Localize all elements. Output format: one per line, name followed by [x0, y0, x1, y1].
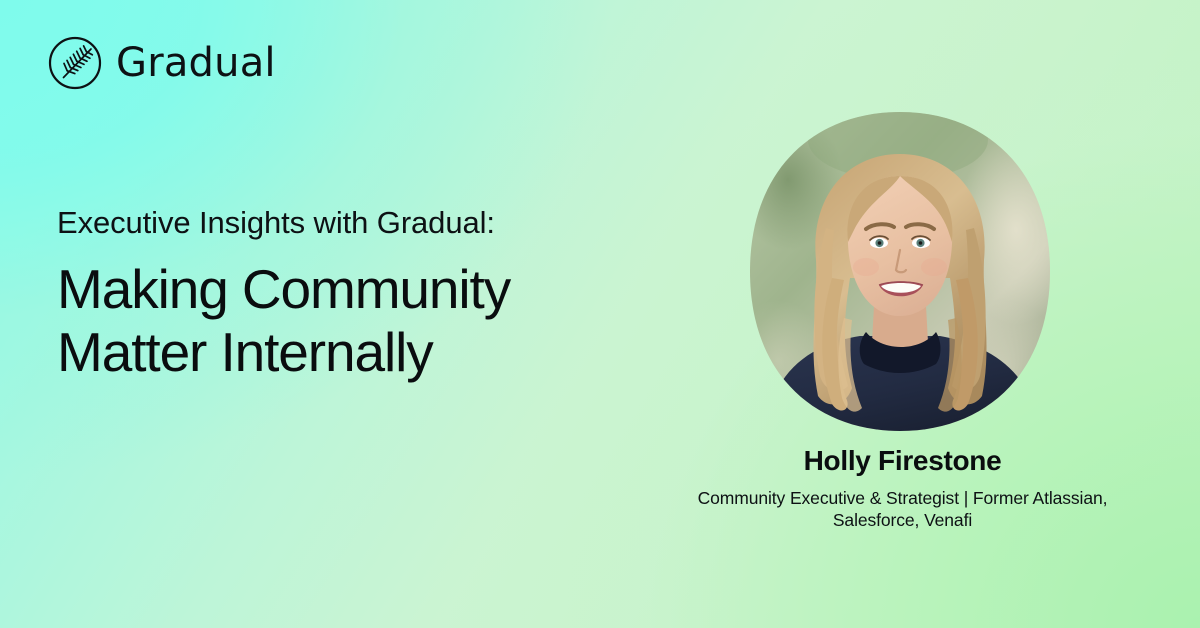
eyebrow-text: Executive Insights with Gradual: [57, 205, 677, 242]
fern-in-circle-icon [48, 36, 102, 90]
headline-block: Executive Insights with Gradual: Making … [57, 205, 677, 385]
speaker-name: Holly Firestone [655, 444, 1150, 478]
speaker-role: Community Executive & Strategist | Forme… [655, 487, 1150, 532]
page-title: Making Community Matter Internally [57, 258, 677, 386]
brand-name: Gradual [116, 43, 276, 83]
speaker-portrait [748, 110, 1052, 433]
promo-card: Gradual Executive Insights with Gradual:… [0, 0, 1200, 628]
brand-logo: Gradual [48, 36, 276, 90]
speaker-info: Holly Firestone Community Executive & St… [655, 444, 1150, 531]
